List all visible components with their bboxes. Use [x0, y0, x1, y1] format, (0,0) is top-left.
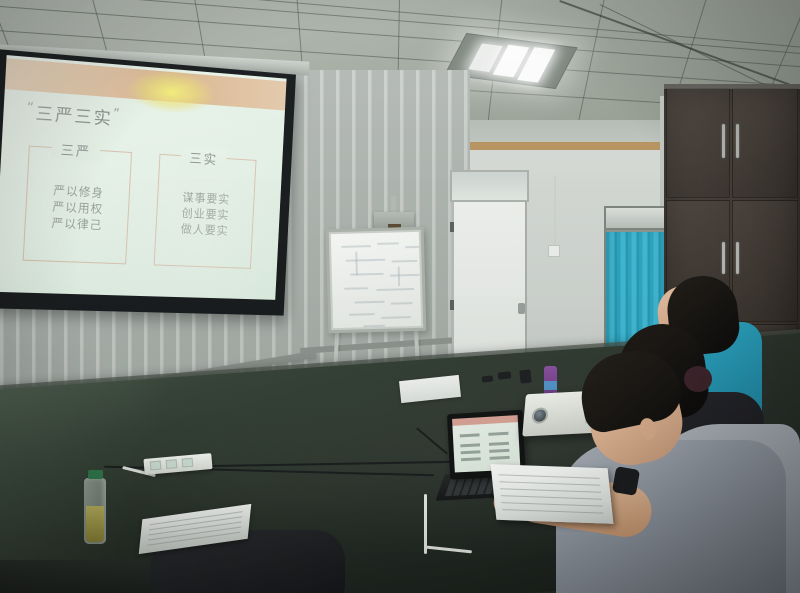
bottle-contents — [86, 506, 104, 542]
glass-tea-bottle[interactable] — [84, 478, 106, 544]
projected-slide: “三严三实” 三严 严以修身 严以用权 严以律己 三实 — [0, 55, 287, 300]
cabinet-door-upper-left[interactable] — [666, 88, 730, 198]
slide-column-left-heading: 三严 — [51, 139, 101, 161]
slide-title-text: 三严三实 — [35, 104, 113, 130]
remote-control[interactable] — [482, 375, 494, 382]
cabinet-handle-mid-left[interactable] — [722, 242, 725, 274]
floor — [0, 560, 160, 593]
cabinet-handle-upper-right[interactable] — [736, 124, 739, 158]
meeting-room-scene: “三严三实” 三严 严以修身 严以用权 严以律己 三实 — [0, 0, 800, 593]
light-pull-cord[interactable] — [554, 175, 556, 247]
cabinet-door-upper-right[interactable] — [732, 88, 798, 198]
marker-pen-2[interactable] — [519, 369, 531, 383]
slide-column-left-lines: 严以修身 严以用权 严以律己 — [24, 180, 130, 234]
slide-columns: 三严 严以修身 严以用权 严以律己 三实 谋事要实 创业要实 — [24, 137, 268, 240]
projection-screen: “三严三实” 三严 严以修身 严以用权 严以律己 三实 — [0, 49, 296, 315]
wristwatch — [612, 466, 640, 496]
laptop-slide-band — [452, 415, 518, 426]
marker-pen-1[interactable] — [498, 371, 512, 379]
projector-lens — [531, 407, 548, 424]
cabinet-top-edge — [664, 84, 800, 89]
door-hinge-middle — [450, 300, 454, 310]
plastic-drink-bottle[interactable] — [544, 366, 557, 396]
pull-switch-box[interactable] — [548, 245, 560, 257]
slide-title: “三严三实” — [26, 98, 122, 130]
slide-column-right-lines: 谋事要实 创业要实 做人要实 — [155, 188, 255, 240]
whiteboard-surface[interactable] — [331, 232, 421, 328]
window-upper-pane — [606, 208, 668, 230]
projection-screen-surface: “三严三实” 三严 严以修身 严以用权 严以律己 三实 — [0, 55, 287, 300]
cabinet-handle-upper-left[interactable] — [722, 124, 725, 158]
woman-black-hair-tie — [684, 366, 712, 392]
handout-document[interactable] — [491, 464, 614, 524]
bottle-cap — [88, 470, 103, 479]
door-knob[interactable] — [518, 303, 525, 314]
slide-column-right-heading: 三实 — [180, 147, 227, 169]
door-hinge-upper — [450, 222, 454, 232]
whiteboard — [326, 227, 427, 334]
cabinet-handle-mid-right[interactable] — [736, 242, 739, 274]
slide-column-left: 三严 严以修身 严以用权 严以律己 — [24, 137, 132, 234]
slide-quote-close: ” — [113, 107, 123, 123]
cabinet-door-mid-right[interactable] — [732, 200, 798, 322]
slide-glow-accent — [126, 67, 215, 115]
slide-column-right: 三实 谋事要实 创业要实 做人要实 — [155, 146, 257, 240]
door-transom-window — [450, 170, 529, 202]
